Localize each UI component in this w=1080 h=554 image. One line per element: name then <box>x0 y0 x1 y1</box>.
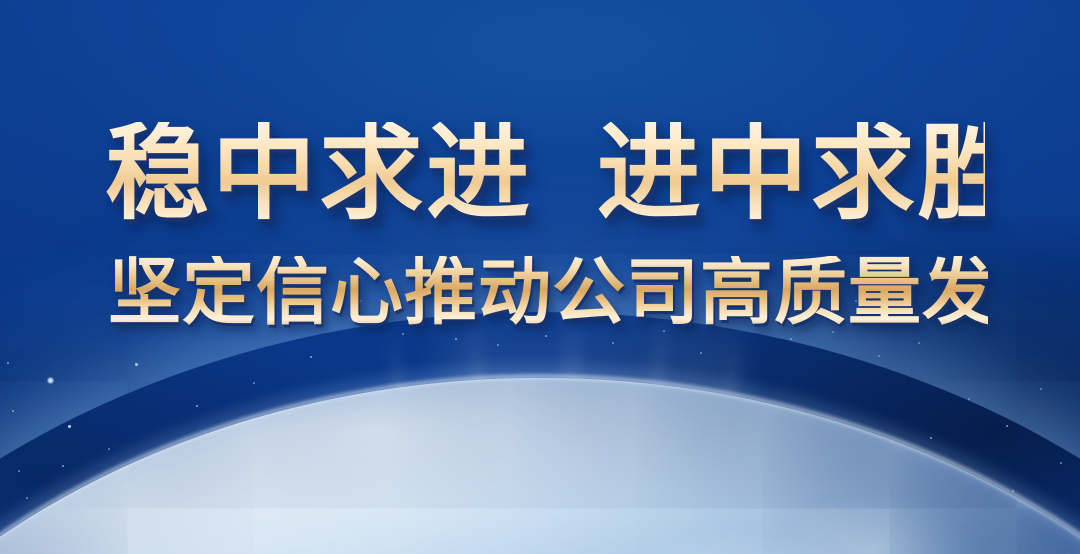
promotional-banner: 稳中求进 进中求胜 坚定信心推动公司高质量发展 <box>0 0 1080 554</box>
space-vignette <box>0 0 1080 554</box>
